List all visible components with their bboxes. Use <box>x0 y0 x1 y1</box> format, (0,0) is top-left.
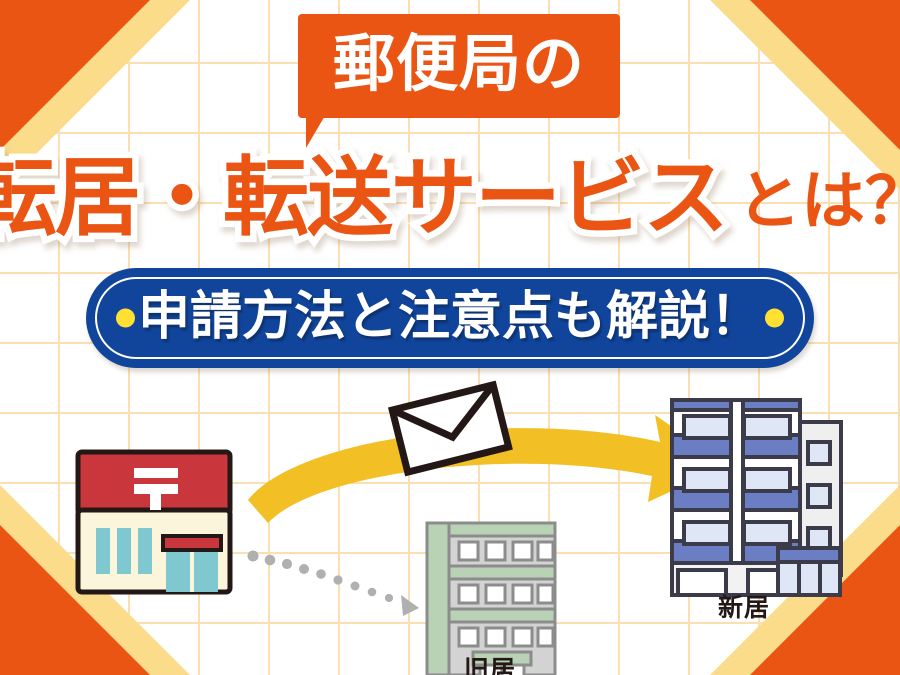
move-dotted-arrow-icon <box>248 551 420 617</box>
speech-bubble: 郵便局の <box>298 14 620 118</box>
subtitle-banner: 申請方法と注意点も解説！ <box>86 268 814 368</box>
old-home-label: 旧居 <box>464 650 516 675</box>
page-title-main: 転居・転送サービス <box>0 155 727 241</box>
banner-dot-left-icon <box>116 309 135 328</box>
page-title-suffix: とは？ <box>737 170 900 234</box>
thumbnail-canvas: 郵便局の 転居・転送サービス とは？ 申請方法と注意点も解説！ <box>0 0 900 675</box>
speech-bubble-text: 郵便局の <box>333 33 585 95</box>
page-title: 転居・転送サービス とは？ <box>0 136 900 260</box>
post-office-icon <box>78 452 230 592</box>
illustration-area <box>0 380 900 675</box>
new-home-label: 新居 <box>718 588 770 624</box>
subtitle-banner-text: 申請方法と注意点も解説！ <box>138 291 762 343</box>
banner-dot-right-icon <box>765 309 784 328</box>
new-home-icon <box>672 400 841 595</box>
